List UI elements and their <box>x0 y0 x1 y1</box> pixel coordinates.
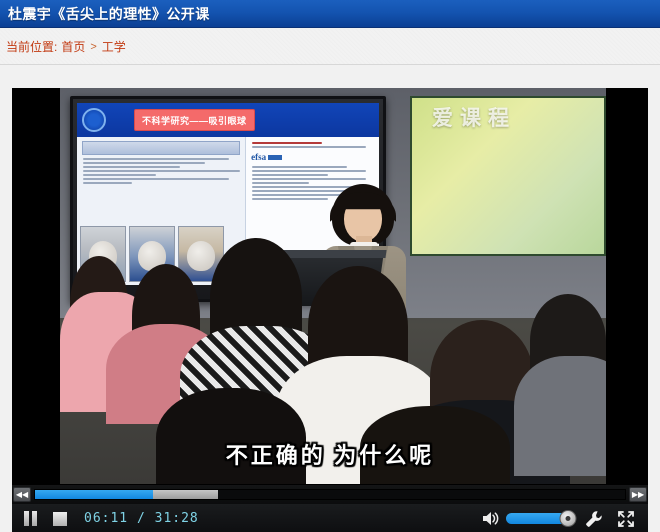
text-line <box>252 182 309 184</box>
buttons-row: 06:11 / 31:28 <box>12 504 648 532</box>
text-line <box>83 182 132 184</box>
text-line <box>252 146 366 148</box>
breadcrumb-link-category[interactable]: 工学 <box>102 38 126 55</box>
text-line <box>83 162 205 164</box>
rewind-icon[interactable]: ◀◀ <box>13 487 31 502</box>
letterbox-right <box>606 88 648 484</box>
breadcrumb: 当前位置: 首页 > 工学 <box>0 38 126 55</box>
podium-surface <box>277 250 386 258</box>
video-player[interactable]: 不科学研究——吸引眼球 <box>12 88 648 532</box>
efsa-logo-text: efsa <box>251 152 266 162</box>
watermark: 爱课程 <box>432 102 516 132</box>
page-title: 杜震宇《舌尖上的理性》公开课 <box>0 4 210 24</box>
text-line <box>252 166 347 168</box>
text-line <box>83 158 229 160</box>
breadcrumb-bar: 当前位置: 首页 > 工学 <box>0 29 660 65</box>
player-control-bar: ◀◀ ▶▶ 06:11 / 31:28 <box>12 484 648 532</box>
time-display: 06:11 / 31:28 <box>84 511 199 526</box>
text-line <box>252 178 366 180</box>
breadcrumb-label: 当前位置: <box>6 38 57 55</box>
breadcrumb-link-home[interactable]: 首页 <box>61 38 85 55</box>
text-line <box>83 174 156 176</box>
breadcrumb-separator-icon: > <box>89 41 97 53</box>
text-line-highlight <box>252 142 322 144</box>
efsa-logo: efsa <box>251 152 374 162</box>
forward-icon[interactable]: ▶▶ <box>629 487 647 502</box>
slide-title-text: 不科学研究——吸引眼球 <box>142 116 247 126</box>
university-logo-icon <box>82 108 106 132</box>
text-line <box>83 170 240 172</box>
seek-bar[interactable] <box>34 489 626 500</box>
played-range <box>35 490 153 499</box>
volume-high-icon[interactable] <box>478 504 504 532</box>
letterbox-left <box>12 88 60 484</box>
slide-header: 不科学研究——吸引眼球 <box>77 103 379 137</box>
text-line <box>252 170 366 172</box>
fullscreen-icon[interactable] <box>610 504 642 532</box>
progress-row: ◀◀ ▶▶ <box>12 485 648 504</box>
video-stage[interactable]: 不科学研究——吸引眼球 <box>12 88 648 484</box>
text-line <box>83 178 229 180</box>
stop-button[interactable] <box>44 504 76 532</box>
slide-title-banner: 不科学研究——吸引眼球 <box>134 109 255 131</box>
pause-button[interactable] <box>16 504 44 532</box>
subtitle: 不正确的 为什么呢 <box>12 438 648 470</box>
wrench-icon[interactable] <box>578 504 610 532</box>
site-header: 杜震宇《舌尖上的理性》公开课 <box>0 0 660 28</box>
text-line <box>252 174 328 176</box>
volume-slider[interactable] <box>506 513 568 524</box>
journal-banner <box>82 141 240 155</box>
video-frame: 不科学研究——吸引眼球 <box>60 88 606 484</box>
volume-knob[interactable] <box>560 510 577 527</box>
text-line <box>83 166 180 168</box>
